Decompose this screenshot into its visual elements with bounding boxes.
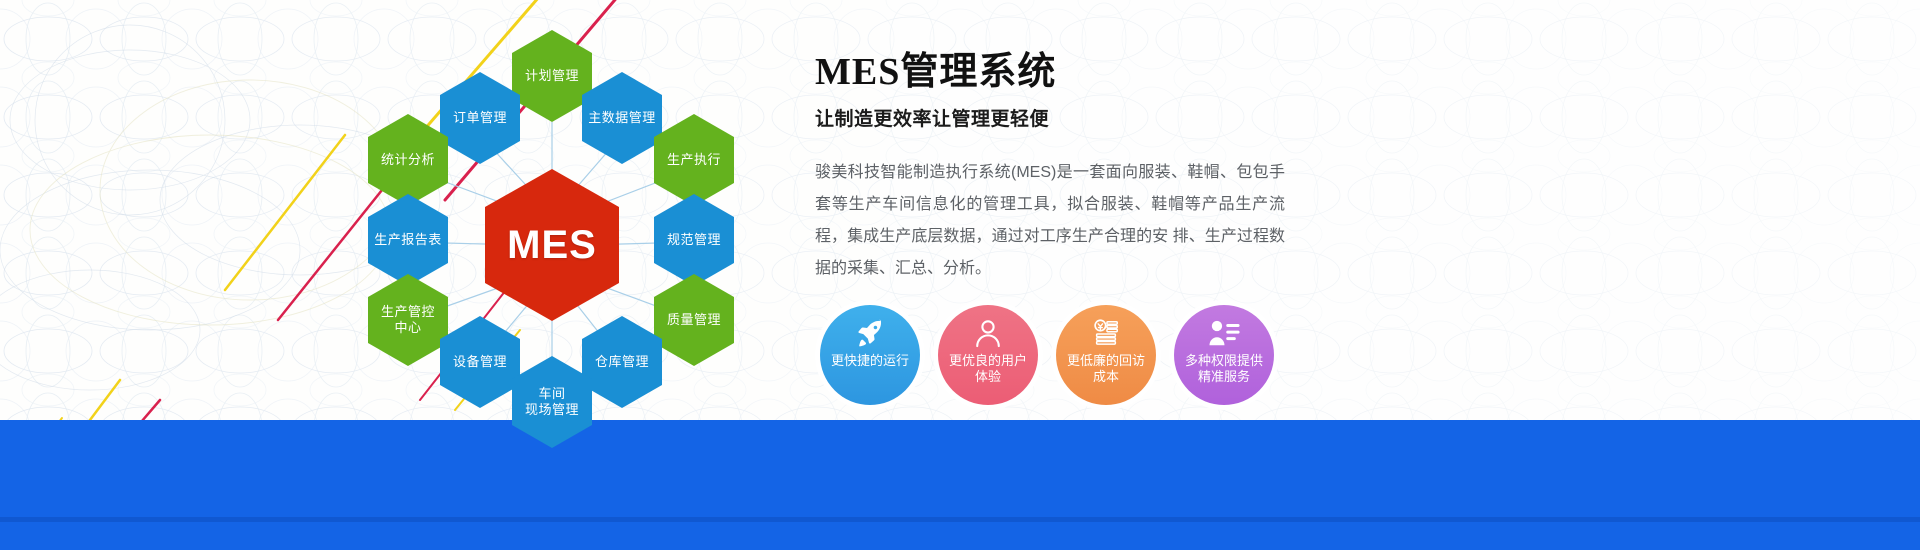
page-subtitle: 让制造更效率让管理更轻便 <box>815 104 1285 131</box>
hex-node-label: 生产执行 <box>663 152 725 168</box>
user-list-icon <box>1208 316 1240 350</box>
hex-node-label: 仓库管理 <box>591 354 653 370</box>
hex-node-label: 设备管理 <box>449 354 511 370</box>
feature-badge-lower-revisit-cost[interactable]: 更低廉的回访成本 <box>1056 305 1156 405</box>
hex-core-label: MES <box>503 221 601 270</box>
feature-badge-better-user-experience[interactable]: 更优良的用户体验 <box>938 305 1038 405</box>
user-icon <box>973 316 1003 350</box>
bottom-blue-band <box>0 420 1920 550</box>
hex-node-label: 车间现场管理 <box>521 386 583 418</box>
money-stack-icon <box>1091 316 1121 350</box>
mes-hex-diagram: MES 计划管理 订单管理 主数据管理 统计分析 生产执行 生产报告表 规范管理… <box>330 0 830 445</box>
hex-node-label: 规范管理 <box>663 232 725 248</box>
feature-badge-row: 更快捷的运行 更优良的用户体验 <box>820 305 1274 405</box>
hex-node-label: 统计分析 <box>377 152 439 168</box>
badge-label: 更低廉的回访成本 <box>1056 353 1156 386</box>
feature-badge-multiple-permissions[interactable]: 多种权限提供精准服务 <box>1174 305 1274 405</box>
badge-label: 更快捷的运行 <box>825 353 915 369</box>
badge-label: 多种权限提供精准服务 <box>1174 353 1274 386</box>
rocket-icon <box>855 316 885 350</box>
hex-node-label: 订单管理 <box>449 110 511 126</box>
hex-node-label: 计划管理 <box>521 68 583 84</box>
feature-badge-faster-operation[interactable]: 更快捷的运行 <box>820 305 920 405</box>
banner-stage: MES 计划管理 订单管理 主数据管理 统计分析 生产执行 生产报告表 规范管理… <box>0 0 1920 550</box>
page-title: MES管理系统 <box>815 52 1285 94</box>
hex-node-label: 主数据管理 <box>584 110 660 126</box>
page-description: 骏美科技智能制造执行系统(MES)是一套面向服装、鞋帽、包包手套等生产车间信息化… <box>815 157 1285 285</box>
hex-node-label: 生产管控中心 <box>377 304 439 336</box>
hex-node-label: 生产报告表 <box>370 232 446 248</box>
copy-block: MES管理系统 让制造更效率让管理更轻便 骏美科技智能制造执行系统(MES)是一… <box>815 52 1285 285</box>
hex-node-label: 质量管理 <box>663 312 725 328</box>
badge-label: 更优良的用户体验 <box>938 353 1038 386</box>
